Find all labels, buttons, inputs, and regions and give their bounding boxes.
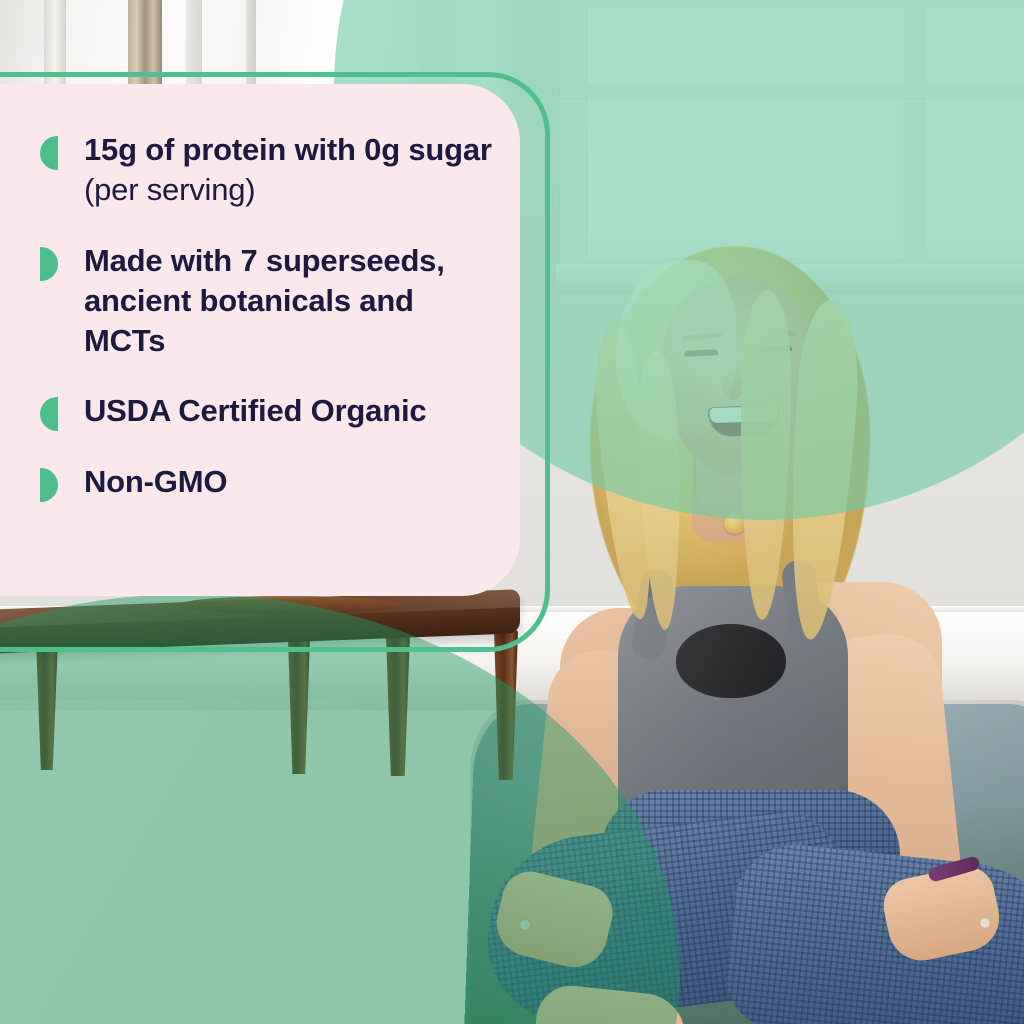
- list-item-text: Made with 7 superseeds, ancient botanica…: [84, 241, 500, 362]
- list-item: 15g of protein with 0g sugar (per servin…: [40, 130, 500, 211]
- half-circle-left-icon: [40, 136, 58, 170]
- list-item-bold: Made with 7 superseeds, ancient botanica…: [84, 243, 445, 359]
- callout-list: 15g of protein with 0g sugar (per servin…: [40, 130, 500, 502]
- list-item-text: USDA Certified Organic: [84, 391, 426, 431]
- marketing-graphic: 15g of protein with 0g sugar (per servin…: [0, 0, 1024, 1024]
- list-item-text: Non-GMO: [84, 462, 227, 502]
- list-item-bold: USDA Certified Organic: [84, 393, 426, 428]
- list-item: USDA Certified Organic: [40, 391, 500, 431]
- list-item-text: 15g of protein with 0g sugar (per servin…: [84, 130, 500, 211]
- half-circle-right-icon: [40, 247, 58, 281]
- callout-card: 15g of protein with 0g sugar (per servin…: [0, 84, 520, 596]
- list-item: Made with 7 superseeds, ancient botanica…: [40, 241, 500, 362]
- half-circle-right-icon: [40, 468, 58, 502]
- half-circle-left-icon: [40, 397, 58, 431]
- ring: [980, 918, 990, 928]
- list-item-bold: Non-GMO: [84, 464, 227, 499]
- list-item-bold: 15g of protein with 0g sugar: [84, 132, 492, 167]
- list-item: Non-GMO: [40, 462, 500, 502]
- list-item-regular: (per serving): [84, 172, 255, 207]
